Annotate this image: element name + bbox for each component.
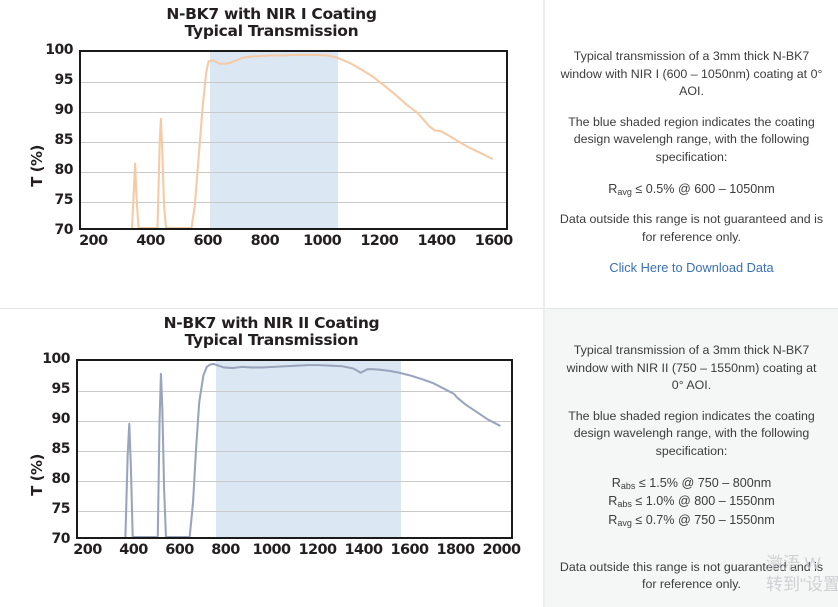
y-tick-label: 95 [52,381,70,397]
x-tick-label: 1600 [391,542,429,558]
plot-wrapper-nir2: T (%) 707580859095100 200400600800100012… [0,350,545,600]
y-tick-label: 70 [55,222,73,238]
info-body-nir2: Typical transmission of a 3mm thick N-BK… [559,309,824,607]
specification-line: Ravg ≤ 0.5% @ 600 – 1050nm [559,180,824,199]
page-root: N-BK7 with NIR I Coating Typical Transmi… [0,0,838,607]
x-tick-labels-nir2: 200400600800100012001400160018002000 [76,542,513,564]
y-tick-label: 100 [45,42,73,58]
chart-title-line2: Typical Transmission [0,23,543,40]
chart-row-nir2: N-BK7 with NIR II Coating Typical Transm… [0,308,838,607]
info-paragraph-description: Typical transmission of a 3mm thick N-BK… [559,48,824,101]
spec-value: ≤ 0.7% @ 750 – 1550nm [632,513,775,527]
info-paragraph-shaded-region: The blue shaded region indicates the coa… [559,114,824,167]
specification-list-nir1: Ravg ≤ 0.5% @ 600 – 1050nm [559,180,824,199]
y-tick-label: 85 [52,441,70,457]
transmission-curve-nir1 [81,52,506,228]
spec-symbol: R [608,494,617,508]
chart-title-line1: N-BK7 with NIR I Coating [0,6,543,23]
x-tick-label: 1400 [418,233,456,249]
x-tick-label: 800 [211,542,239,558]
y-tick-label: 70 [52,531,70,547]
y-tick-label: 80 [55,162,73,178]
transmission-curve-nir2 [78,361,511,537]
y-tick-label: 85 [55,132,73,148]
spec-subscript: avg [617,187,632,197]
chart-panel-nir1: N-BK7 with NIR I Coating Typical Transmi… [0,0,545,308]
plot-area-nir2 [76,359,513,539]
x-tick-label: 1400 [345,542,383,558]
y-tick-labels-nir2: 707580859095100 [23,359,70,539]
spec-symbol: R [612,476,621,490]
x-tick-label: 2000 [483,542,521,558]
x-tick-label: 400 [119,542,147,558]
spec-symbol: R [608,182,617,196]
x-tick-label: 1000 [303,233,341,249]
x-tick-label: 1800 [437,542,475,558]
x-tick-label: 200 [79,233,107,249]
x-tick-label: 600 [165,542,193,558]
info-panel-nir1: Typical transmission of a 3mm thick N-BK… [545,0,838,308]
y-tick-label: 90 [52,411,70,427]
specification-line: Rabs ≤ 1.0% @ 800 – 1550nm [559,492,824,511]
specification-line: Rabs ≤ 1.5% @ 750 – 800nm [559,474,824,493]
info-spacer [559,543,824,559]
y-tick-label: 75 [55,192,73,208]
chart-title-line2: Typical Transmission [0,332,543,349]
x-tick-label: 600 [193,233,221,249]
plot-wrapper-nir1: T (%) 707580859095100 200400600800100012… [0,41,545,291]
spec-subscript: abs [617,499,632,509]
x-tick-label: 1200 [299,542,337,558]
chart-title-line1: N-BK7 with NIR II Coating [0,315,543,332]
info-paragraph-shaded-region: The blue shaded region indicates the coa… [559,408,824,461]
spec-value: ≤ 1.0% @ 800 – 1550nm [632,494,775,508]
y-tick-label: 90 [55,102,73,118]
info-paragraph-description: Typical transmission of a 3mm thick N-BK… [559,342,824,395]
y-tick-labels-nir1: 707580859095100 [26,50,73,230]
y-tick-label: 95 [55,72,73,88]
y-tick-label: 75 [52,501,70,517]
x-tick-label: 1000 [253,542,291,558]
x-tick-label: 200 [73,542,101,558]
chart-panel-nir2: N-BK7 with NIR II Coating Typical Transm… [0,308,545,607]
spec-value: ≤ 1.5% @ 750 – 800nm [635,476,771,490]
plot-area-nir1 [79,50,508,230]
x-tick-label: 400 [136,233,164,249]
chart-title-nir1: N-BK7 with NIR I Coating Typical Transmi… [0,0,543,41]
y-tick-label: 80 [52,471,70,487]
spec-subscript: abs [621,481,636,491]
x-tick-label: 1200 [360,233,398,249]
x-tick-label: 1600 [475,233,513,249]
x-tick-label: 800 [251,233,279,249]
spec-symbol: R [608,513,617,527]
download-data-link-nir1[interactable]: Click Here to Download Data [559,260,824,275]
chart-row-nir1: N-BK7 with NIR I Coating Typical Transmi… [0,0,838,308]
info-panel-nir2: Typical transmission of a 3mm thick N-BK… [545,308,838,607]
spec-value: ≤ 0.5% @ 600 – 1050nm [632,182,775,196]
spec-subscript: avg [617,518,632,528]
info-paragraph-disclaimer: Data outside this range is not guarantee… [559,559,824,594]
y-tick-label: 100 [42,351,70,367]
specification-list-nir2: Rabs ≤ 1.5% @ 750 – 800nmRabs ≤ 1.0% @ 8… [559,474,824,530]
specification-line: Ravg ≤ 0.7% @ 750 – 1550nm [559,511,824,530]
info-paragraph-disclaimer: Data outside this range is not guarantee… [559,211,824,246]
info-body-nir1: Typical transmission of a 3mm thick N-BK… [559,0,824,275]
chart-title-nir2: N-BK7 with NIR II Coating Typical Transm… [0,309,543,350]
x-tick-labels-nir1: 2004006008001000120014001600 [79,233,508,255]
